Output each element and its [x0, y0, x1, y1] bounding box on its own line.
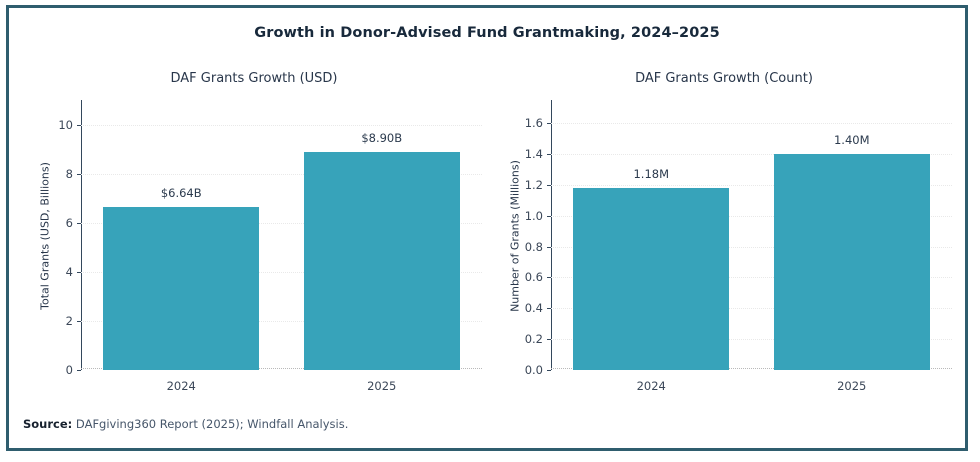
y-tick-mark — [77, 321, 81, 322]
y-tick-mark — [77, 125, 81, 126]
source-label: Source: — [23, 417, 72, 431]
y-tick-label-count: 1.2 — [525, 178, 543, 192]
y-tick-label-count: 0.4 — [525, 301, 543, 315]
y-tick-mark — [547, 185, 551, 186]
y-tick-label-usd: 4 — [66, 265, 73, 279]
y-tick-mark — [547, 277, 551, 278]
y-tick-label-count: 1.6 — [525, 116, 543, 130]
y-tick-label-usd: 6 — [66, 216, 73, 230]
source-text: DAFgiving360 Report (2025); Windfall Ana… — [72, 417, 348, 431]
source-footnote: Source: DAFgiving360 Report (2025); Wind… — [23, 417, 348, 431]
figure-title: Growth in Donor-Advised Fund Grantmaking… — [9, 25, 965, 41]
bar-2024[interactable]: $6.64B2024 — [103, 207, 259, 370]
y-tick-label-count: 0.6 — [525, 270, 543, 284]
y-tick-mark — [547, 216, 551, 217]
bar-2025[interactable]: 1.40M2025 — [774, 154, 930, 370]
bar-value-label: 1.40M — [774, 133, 930, 147]
bar-2025[interactable]: $8.90B2025 — [304, 152, 460, 370]
y-tick-mark — [77, 272, 81, 273]
y-tick-label-count: 0.0 — [525, 363, 543, 377]
y-tick-mark — [547, 123, 551, 124]
bar-2024[interactable]: 1.18M2024 — [573, 188, 729, 370]
x-tick-label: 2024 — [103, 379, 259, 393]
y-tick-mark — [77, 370, 81, 371]
y-tick-label-usd: 8 — [66, 167, 73, 181]
y-axis-label-count: Number of Grants (Millions) — [509, 96, 522, 376]
bar-value-label: $8.90B — [304, 131, 460, 145]
bar-value-label: 1.18M — [573, 167, 729, 181]
y-tick-mark — [547, 247, 551, 248]
y-tick-label-usd: 10 — [58, 118, 73, 132]
y-tick-mark — [547, 370, 551, 371]
chart-panel-usd: DAF Grants Growth (USD) Total Grants (US… — [19, 63, 489, 408]
chart-figure: Growth in Donor-Advised Fund Grantmaking… — [6, 5, 968, 451]
y-tick-mark — [547, 154, 551, 155]
y-tick-label-count: 0.2 — [525, 332, 543, 346]
panel-title-count: DAF Grants Growth (Count) — [489, 71, 959, 86]
plot-area-count: 0.00.20.40.60.81.01.21.41.61.18M20241.40… — [551, 103, 952, 370]
y-tick-mark — [77, 174, 81, 175]
y-tick-mark — [547, 308, 551, 309]
chart-panel-count: DAF Grants Growth (Count) Number of Gran… — [489, 63, 959, 408]
x-tick-label: 2024 — [573, 379, 729, 393]
y-tick-label-count: 0.8 — [525, 240, 543, 254]
y-tick-label-usd: 0 — [66, 363, 73, 377]
plot-area-usd: 0246810$6.64B2024$8.90B2025 — [81, 103, 482, 370]
gridline — [551, 123, 952, 124]
y-tick-label-count: 1.0 — [525, 209, 543, 223]
x-tick-label: 2025 — [774, 379, 930, 393]
x-tick-label: 2025 — [304, 379, 460, 393]
y-tick-label-usd: 2 — [66, 314, 73, 328]
y-axis-label-usd: Total Grants (USD, Billions) — [39, 96, 52, 376]
gridline — [81, 125, 482, 126]
y-tick-mark — [77, 223, 81, 224]
panel-title-usd: DAF Grants Growth (USD) — [19, 71, 489, 86]
y-tick-mark — [547, 339, 551, 340]
bar-value-label: $6.64B — [103, 186, 259, 200]
y-tick-label-count: 1.4 — [525, 147, 543, 161]
